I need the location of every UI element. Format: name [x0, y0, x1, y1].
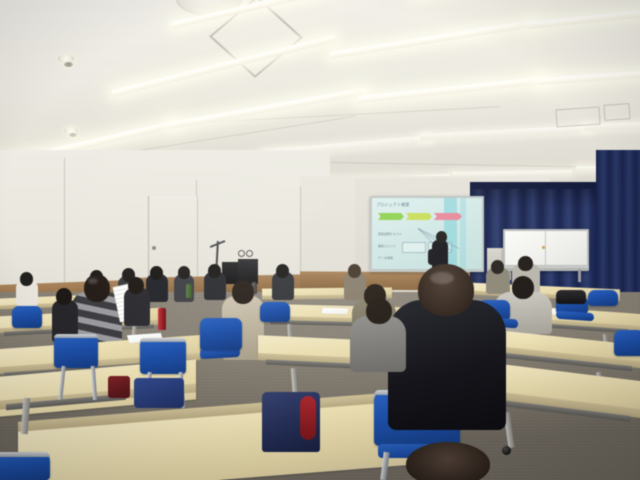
- wall-hook-icon: [246, 250, 253, 257]
- whiteboard-magnet-icon: [542, 246, 545, 249]
- person-head-closest: [406, 442, 490, 480]
- red-thermos: [158, 308, 166, 330]
- slide-box-1: [402, 242, 426, 253]
- whiteboard-seam: [545, 231, 546, 265]
- person-head: [150, 266, 163, 280]
- whiteboard-leg: [578, 269, 581, 282]
- whiteboard: [505, 231, 587, 265]
- ceiling-vent: [555, 106, 600, 127]
- person-head: [348, 264, 361, 278]
- door-knob-icon[interactable]: [152, 246, 156, 250]
- slide-title: プロジェクト概要: [376, 202, 410, 207]
- person-head: [276, 264, 289, 278]
- slide-highlight-band-2: [460, 198, 466, 269]
- slide-note-3: データ参照: [378, 256, 393, 260]
- photo-seminar-room: プロジェクト概要 項目説明テキスト 補足コメント データ参照: [0, 0, 640, 480]
- person-head: [512, 276, 534, 299]
- handout: [321, 308, 348, 315]
- person-head: [208, 264, 221, 278]
- blue-bag: [134, 378, 184, 408]
- person-head: [366, 298, 392, 324]
- person-head: [128, 277, 144, 294]
- downlight-inner: [64, 62, 73, 67]
- slide-chevron-1: [378, 213, 404, 220]
- chair-back[interactable]: [12, 306, 42, 328]
- downlight-inner-2: [69, 133, 77, 137]
- person-head: [178, 266, 190, 279]
- slide-chevron-3: [434, 213, 462, 220]
- person-head: [84, 274, 110, 302]
- ceiling-vent: [603, 103, 630, 121]
- person-head: [56, 288, 72, 305]
- slide-note-1: 項目説明テキスト: [378, 232, 402, 236]
- chair-back[interactable]: [588, 290, 618, 306]
- chair-back[interactable]: [614, 330, 640, 356]
- person-head: [232, 280, 254, 304]
- green-bottle: [186, 284, 192, 298]
- red-bag: [108, 376, 130, 398]
- black-bag-table: [556, 290, 586, 304]
- projection-screen: プロジェクト概要 項目説明テキスト 補足コメント データ参照: [372, 198, 482, 269]
- person-head: [518, 256, 533, 271]
- chair-rim: [54, 334, 98, 338]
- chair-rim: [140, 338, 186, 342]
- backpack-red-strap: [300, 396, 316, 440]
- caster: [502, 446, 511, 455]
- person-head: [20, 272, 33, 286]
- chair-rim: [0, 452, 50, 457]
- wall-hook-icon: [238, 250, 245, 257]
- person-body: [350, 316, 406, 372]
- chair-back[interactable]: [140, 338, 186, 374]
- slide-chevron-2: [406, 213, 432, 220]
- slide-note-2: 補足コメント: [378, 244, 396, 248]
- chair-back[interactable]: [54, 334, 98, 368]
- presenter-head: [436, 231, 447, 243]
- chair-back[interactable]: [200, 318, 242, 350]
- curtain-right: [596, 150, 640, 300]
- person-head: [491, 260, 504, 274]
- chair-back[interactable]: [260, 302, 290, 322]
